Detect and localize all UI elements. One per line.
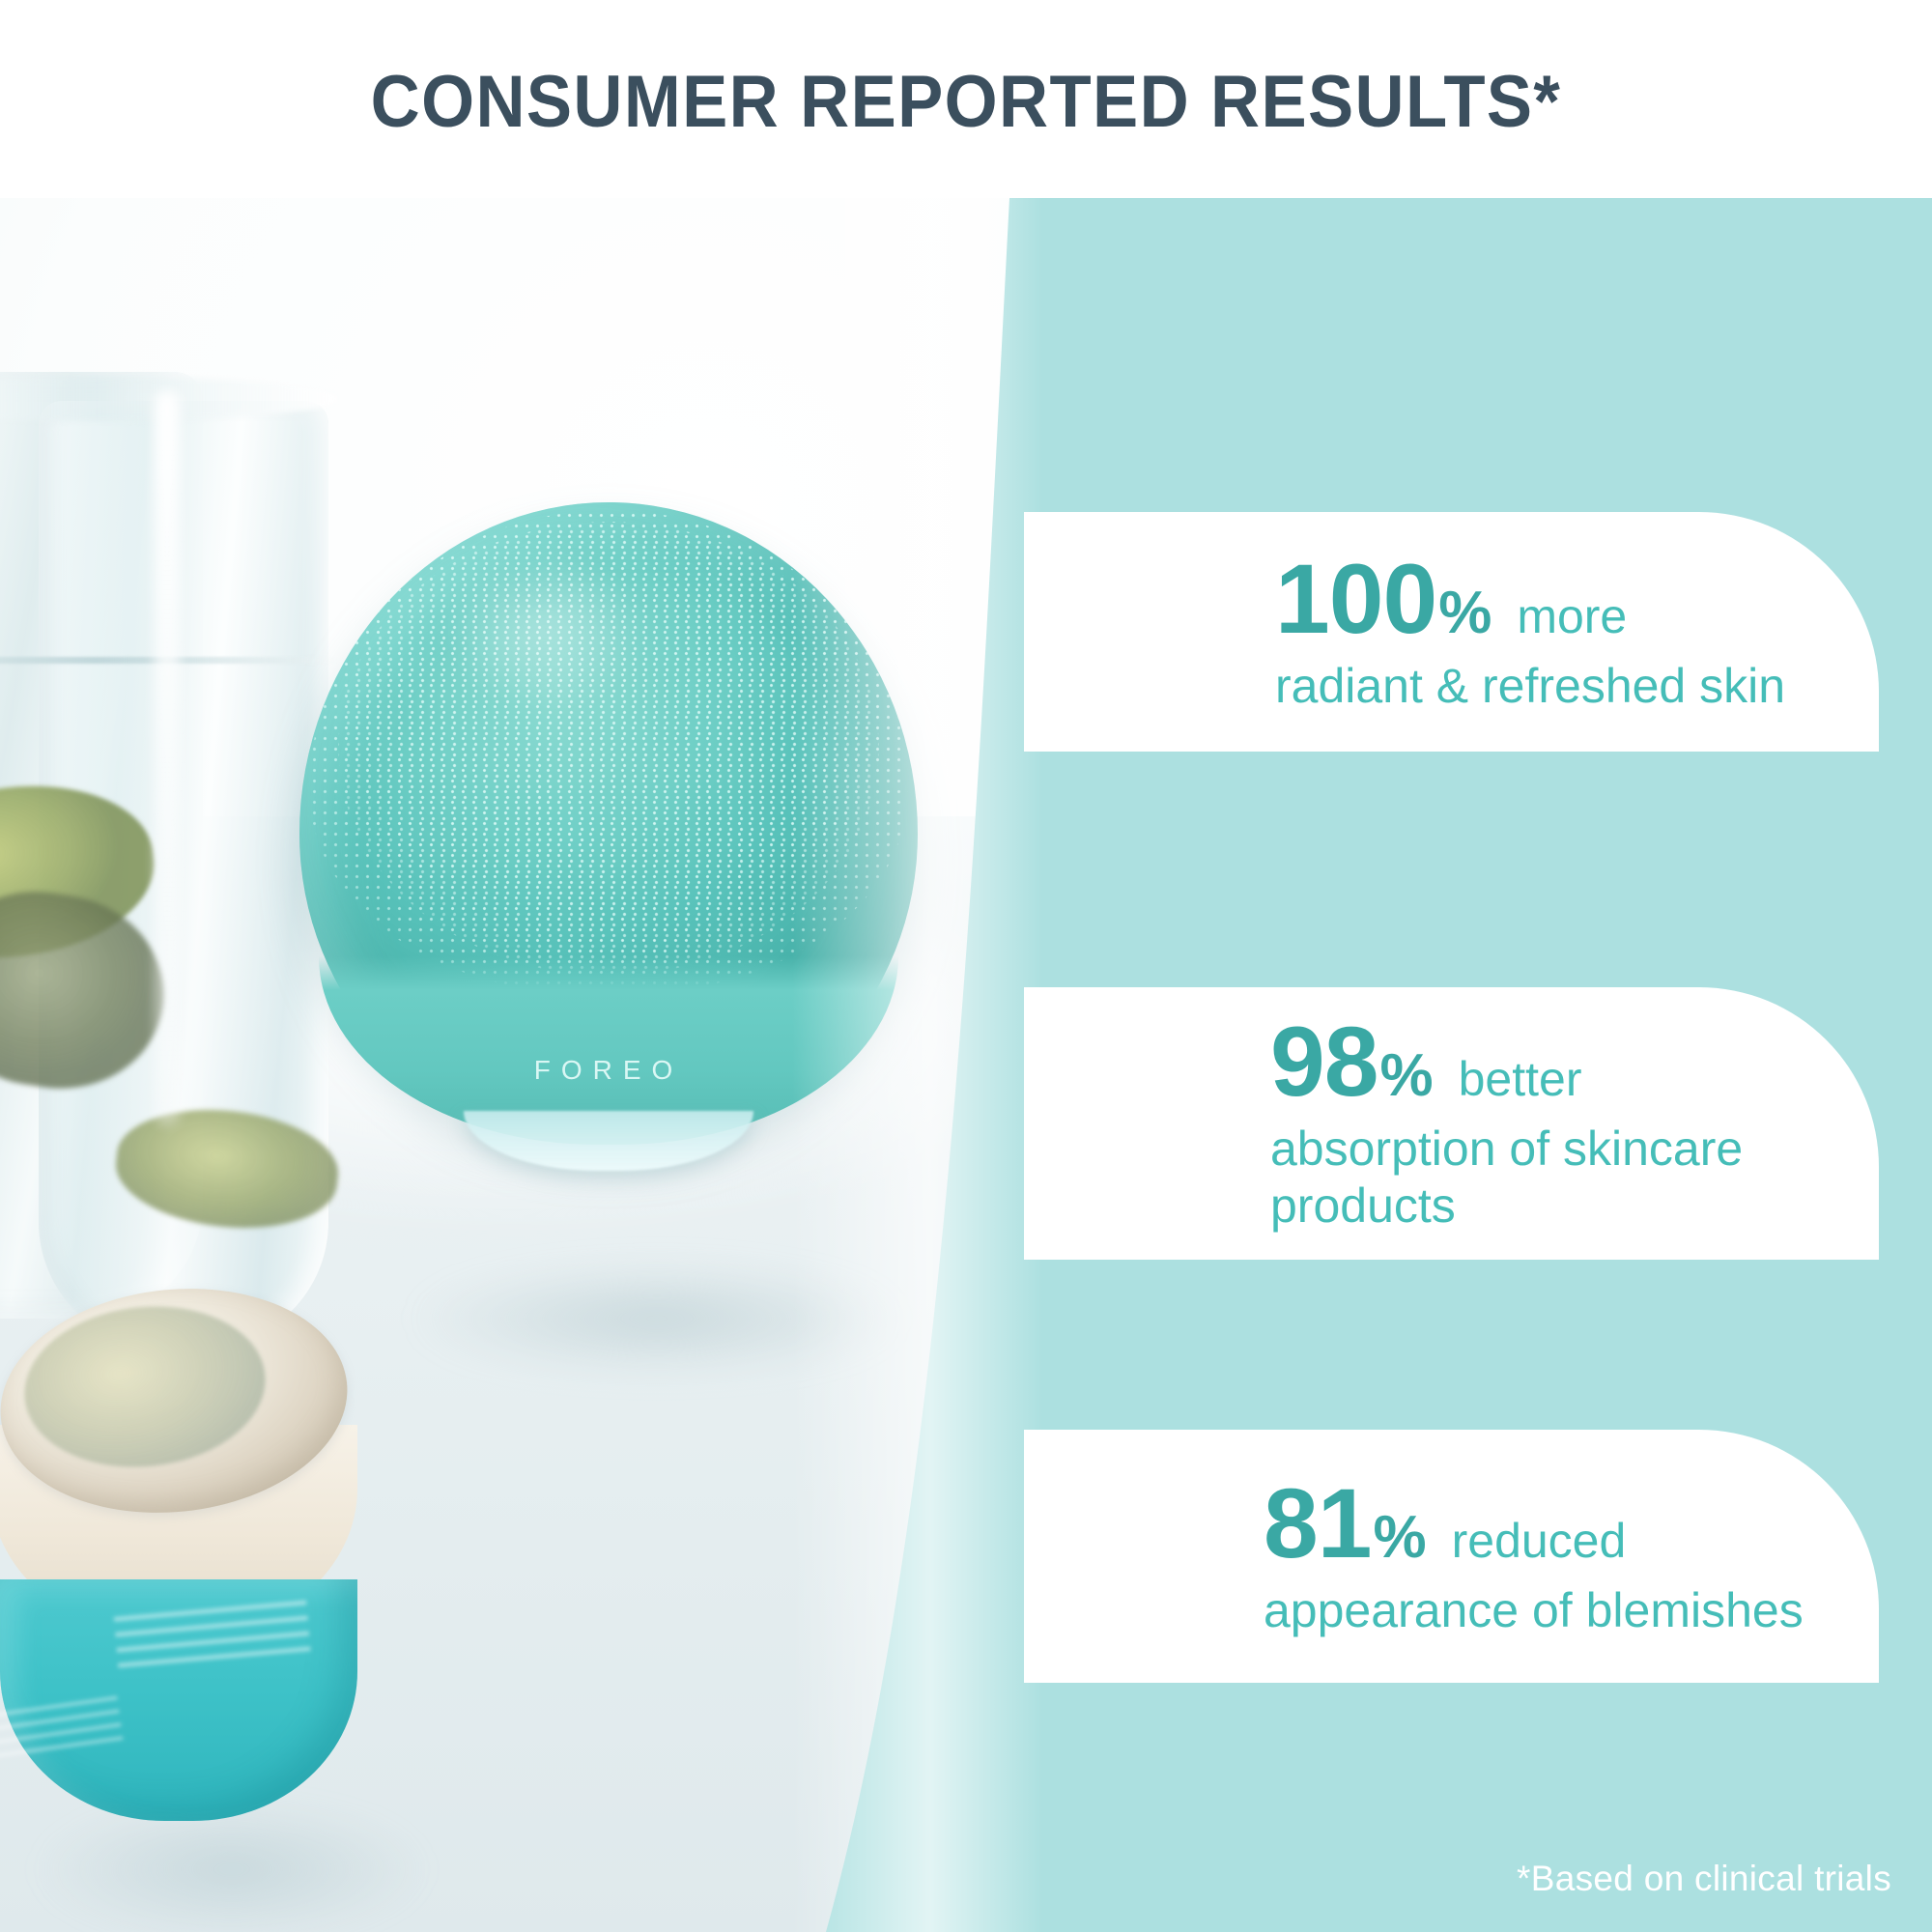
stat-card-1-content: 100 % more radiant & refreshed skin (1024, 512, 1879, 752)
stat-card-3: 81 % reduced appearance of blemishes (1024, 1430, 1879, 1683)
stat-card-2-lead-word: better (1459, 1055, 1582, 1103)
stat-card-3-lead-word: reduced (1452, 1517, 1627, 1565)
stat-card-2-number: 98 (1270, 1012, 1378, 1111)
stat-card-2-percent: % (1379, 1046, 1433, 1106)
footnote-clinical-trials: *Based on clinical trials (1517, 1859, 1891, 1899)
stat-card-1-description: radiant & refreshed skin (1275, 658, 1840, 715)
infographic-canvas: CONSUMER REPORTED RESULTS* FOREO (0, 0, 1932, 1932)
stat-card-1-lead-word: more (1517, 592, 1627, 640)
device-shadow (319, 1246, 995, 1391)
stat-card-3-percent: % (1373, 1508, 1426, 1568)
device-highlight (415, 541, 705, 763)
foreo-brand-logo: FOREO (299, 1055, 918, 1086)
stat-card-1: 100 % more radiant & refreshed skin (1024, 512, 1879, 752)
stat-card-3-content: 81 % reduced appearance of blemishes (1024, 1430, 1879, 1683)
page-title: CONSUMER REPORTED RESULTS* (68, 60, 1864, 144)
cream-jar (0, 1290, 415, 1831)
stat-card-1-number: 100 (1275, 550, 1436, 648)
stat-card-2-headline: 98 % better (1270, 1012, 1840, 1111)
stat-card-3-description: appearance of blemishes (1264, 1582, 1840, 1639)
stat-card-2-description: absorption of skincare products (1270, 1121, 1840, 1235)
stat-card-2-content: 98 % better absorption of skincare produ… (1024, 987, 1879, 1260)
stat-card-1-percent: % (1438, 583, 1492, 643)
stat-card-3-headline: 81 % reduced (1264, 1474, 1840, 1573)
glass-highlight (155, 391, 180, 1125)
stat-card-1-headline: 100 % more (1275, 550, 1840, 648)
foreo-luna-device: FOREO (299, 502, 918, 1159)
stat-card-2: 98 % better absorption of skincare produ… (1024, 987, 1879, 1260)
stat-card-3-number: 81 (1264, 1474, 1371, 1573)
